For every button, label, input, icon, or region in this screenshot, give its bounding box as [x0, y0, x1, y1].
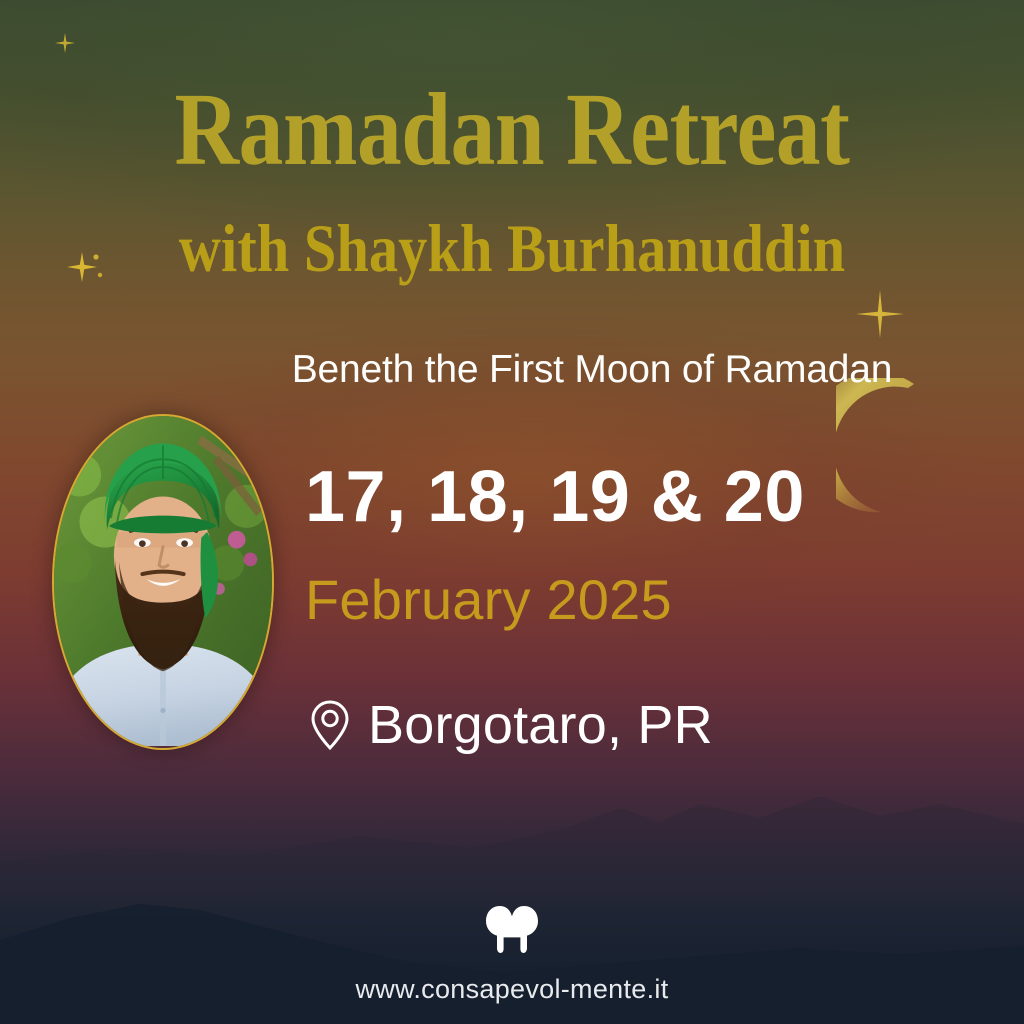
event-dates: 17, 18, 19 & 20: [305, 456, 805, 538]
poster-canvas: Ramadan Retreat with Shaykh Burhanuddin …: [0, 0, 1024, 1024]
event-month-year: February 2025: [305, 567, 672, 632]
page-subtitle: with Shaykh Burhanuddin: [72, 214, 953, 282]
tagline-text: Beneth the First Moon of Ramadan: [262, 348, 922, 392]
portrait-illustration: [54, 416, 272, 746]
brand-logo: [0, 902, 1024, 958]
crescent-moon-icon: [836, 378, 966, 528]
consapevol-mente-logo-icon: [483, 902, 541, 958]
sparkle-right-icon: [852, 286, 908, 342]
website-url: www.consapevol-mente.it: [0, 974, 1024, 1005]
map-pin-icon: [308, 698, 352, 752]
event-location: Borgotaro, PR: [308, 694, 713, 756]
speaker-portrait: [52, 414, 274, 750]
location-label: Borgotaro, PR: [368, 694, 713, 756]
distant-mountain-ridge: [0, 744, 1024, 874]
page-title: Ramadan Retreat: [72, 78, 953, 182]
sparkle-top-left-icon: [54, 32, 76, 54]
